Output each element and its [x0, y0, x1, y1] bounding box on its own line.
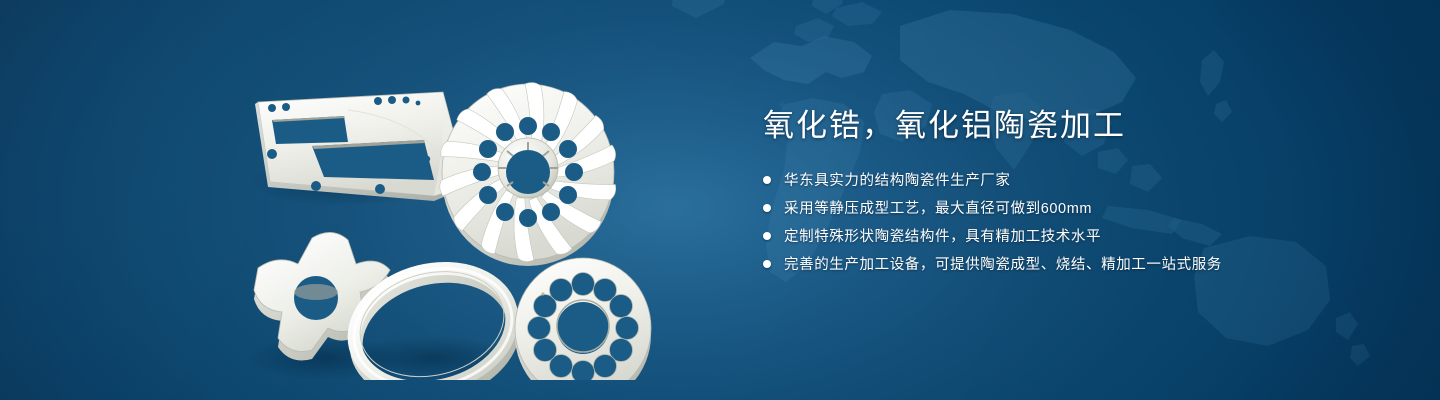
list-item: 华东具实力的结构陶瓷件生产厂家: [763, 169, 1363, 191]
list-item-label: 采用等静压成型工艺，最大直径可做到600mm: [784, 197, 1092, 218]
list-item-label: 完善的生产加工设备，可提供陶瓷成型、烧结、精加工一站式服务: [784, 253, 1222, 274]
list-item: 定制特殊形状陶瓷结构件，具有精加工技术水平: [763, 225, 1363, 247]
list-item: 采用等静压成型工艺，最大直径可做到600mm: [763, 197, 1363, 219]
ceramic-parts-photo-cluster: [228, 40, 668, 380]
banner-copy: 氧化锆，氧化铝陶瓷加工 华东具实力的结构陶瓷件生产厂家 采用等静压成型工艺，最大…: [763, 108, 1363, 281]
machined-ceramic-plate: [255, 92, 464, 201]
bullet-dot-icon: [763, 176, 771, 184]
list-item-label: 华东具实力的结构陶瓷件生产厂家: [784, 169, 1011, 190]
bullet-dot-icon: [763, 260, 771, 268]
bullet-dot-icon: [763, 232, 771, 240]
list-item-label: 定制特殊形状陶瓷结构件，具有精加工技术水平: [784, 225, 1101, 246]
perforated-annular-disc: [515, 258, 651, 380]
list-item: 完善的生产加工设备，可提供陶瓷成型、烧结、精加工一站式服务: [763, 253, 1363, 275]
promo-banner: 氧化锆，氧化铝陶瓷加工 华东具实力的结构陶瓷件生产厂家 采用等静压成型工艺，最大…: [0, 0, 1440, 400]
page-title: 氧化锆，氧化铝陶瓷加工: [763, 108, 1363, 145]
bullet-dot-icon: [763, 204, 771, 212]
bladed-impeller-disc: [438, 80, 619, 266]
feature-list: 华东具实力的结构陶瓷件生产厂家 采用等静压成型工艺，最大直径可做到600mm 定…: [763, 169, 1363, 275]
